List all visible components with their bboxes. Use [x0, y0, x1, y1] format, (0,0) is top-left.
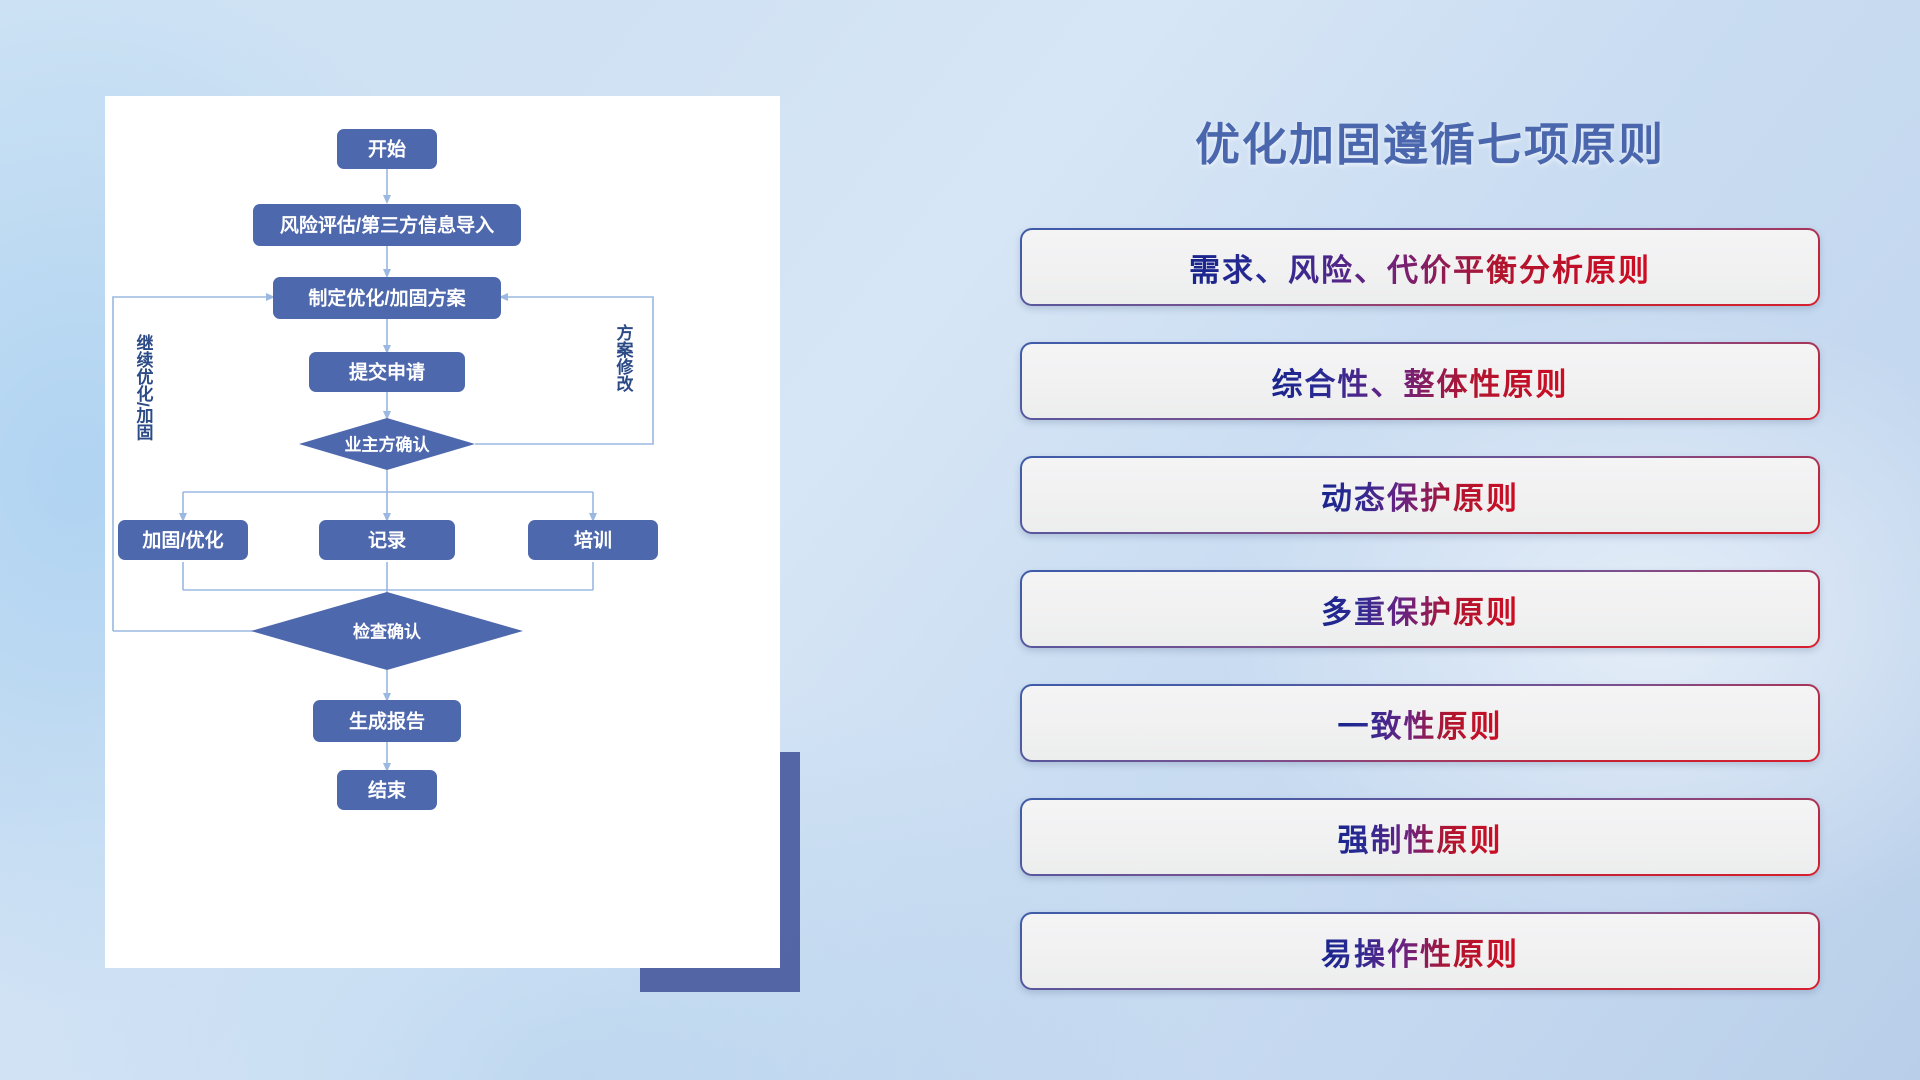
principle-label: 强制性原则	[1338, 815, 1503, 860]
principle-card[interactable]: 动态保护原则	[1020, 456, 1820, 534]
slide-canvas: 开始 风险评估/第三方信息导入 制定优化/加固方案 提交申请 业主方确认	[0, 0, 1920, 1080]
flow-node-owner-confirm[interactable]: 业主方确认	[299, 418, 475, 470]
principle-card[interactable]: 一致性原则	[1020, 684, 1820, 762]
principles-pane: 优化加固遵循七项原则 需求、风险、代价平衡分析原则 综合性、整体性原则 动态保护…	[1020, 0, 1920, 1080]
flow-node-training-label: 培训	[574, 529, 612, 552]
flow-node-inspect-confirm-label: 检查确认	[353, 622, 422, 642]
principle-card-body: 需求、风险、代价平衡分析原则	[1022, 230, 1818, 304]
flow-node-start[interactable]: 开始	[337, 129, 437, 169]
principle-label: 多重保护原则	[1321, 587, 1519, 632]
principle-card[interactable]: 多重保护原则	[1020, 570, 1820, 648]
principle-card[interactable]: 易操作性原则	[1020, 912, 1820, 990]
flow-node-record-label: 记录	[368, 530, 406, 552]
flowchart-connectors	[113, 169, 653, 770]
principle-card-body: 动态保护原则	[1022, 458, 1818, 532]
flow-node-plan-label: 制定优化/加固方案	[308, 287, 466, 310]
principles-list: 需求、风险、代价平衡分析原则 综合性、整体性原则 动态保护原则 多重保护原则	[1020, 228, 1820, 1026]
principle-card-body: 易操作性原则	[1022, 914, 1818, 988]
flow-node-submit[interactable]: 提交申请	[309, 352, 465, 392]
flow-edge-label-left-loop: 继续优化/加固	[134, 333, 155, 442]
principle-label: 动态保护原则	[1321, 473, 1519, 518]
flow-node-submit-label: 提交申请	[349, 361, 425, 384]
principle-card-body: 强制性原则	[1022, 800, 1818, 874]
flow-node-risk-assessment[interactable]: 风险评估/第三方信息导入	[253, 204, 521, 246]
flowchart-nodes: 开始 风险评估/第三方信息导入 制定优化/加固方案 提交申请 业主方确认	[118, 129, 658, 810]
flow-node-report[interactable]: 生成报告	[313, 700, 461, 742]
flow-node-inspect-confirm[interactable]: 检查确认	[251, 592, 523, 670]
page-title: 优化加固遵循七项原则	[1020, 108, 1840, 173]
principle-label: 一致性原则	[1338, 701, 1503, 746]
flow-node-training[interactable]: 培训	[528, 520, 658, 560]
principle-label: 易操作性原则	[1321, 929, 1519, 974]
flow-edge-label-right-loop: 方案修改	[614, 323, 635, 393]
principle-card-body: 多重保护原则	[1022, 572, 1818, 646]
flow-node-start-label: 开始	[368, 138, 406, 161]
flowchart-card: 开始 风险评估/第三方信息导入 制定优化/加固方案 提交申请 业主方确认	[105, 96, 780, 968]
flow-node-owner-confirm-label: 业主方确认	[345, 435, 431, 455]
flow-node-risk-assessment-label: 风险评估/第三方信息导入	[280, 214, 494, 237]
principle-card[interactable]: 综合性、整体性原则	[1020, 342, 1820, 420]
principle-card-body: 综合性、整体性原则	[1022, 344, 1818, 418]
flow-node-end-label: 结束	[368, 779, 407, 802]
principle-card[interactable]: 强制性原则	[1020, 798, 1820, 876]
flow-node-reinforce[interactable]: 加固/优化	[118, 520, 248, 560]
flowchart-svg: 开始 风险评估/第三方信息导入 制定优化/加固方案 提交申请 业主方确认	[105, 96, 780, 968]
principle-card[interactable]: 需求、风险、代价平衡分析原则	[1020, 228, 1820, 306]
flow-node-plan[interactable]: 制定优化/加固方案	[273, 277, 501, 319]
principle-label: 需求、风险、代价平衡分析原则	[1189, 245, 1651, 290]
flow-node-reinforce-label: 加固/优化	[141, 529, 223, 552]
flow-node-end[interactable]: 结束	[337, 770, 437, 810]
flow-node-report-label: 生成报告	[349, 710, 425, 733]
principle-label: 综合性、整体性原则	[1272, 359, 1569, 404]
principle-card-body: 一致性原则	[1022, 686, 1818, 760]
flow-node-record[interactable]: 记录	[319, 520, 455, 560]
